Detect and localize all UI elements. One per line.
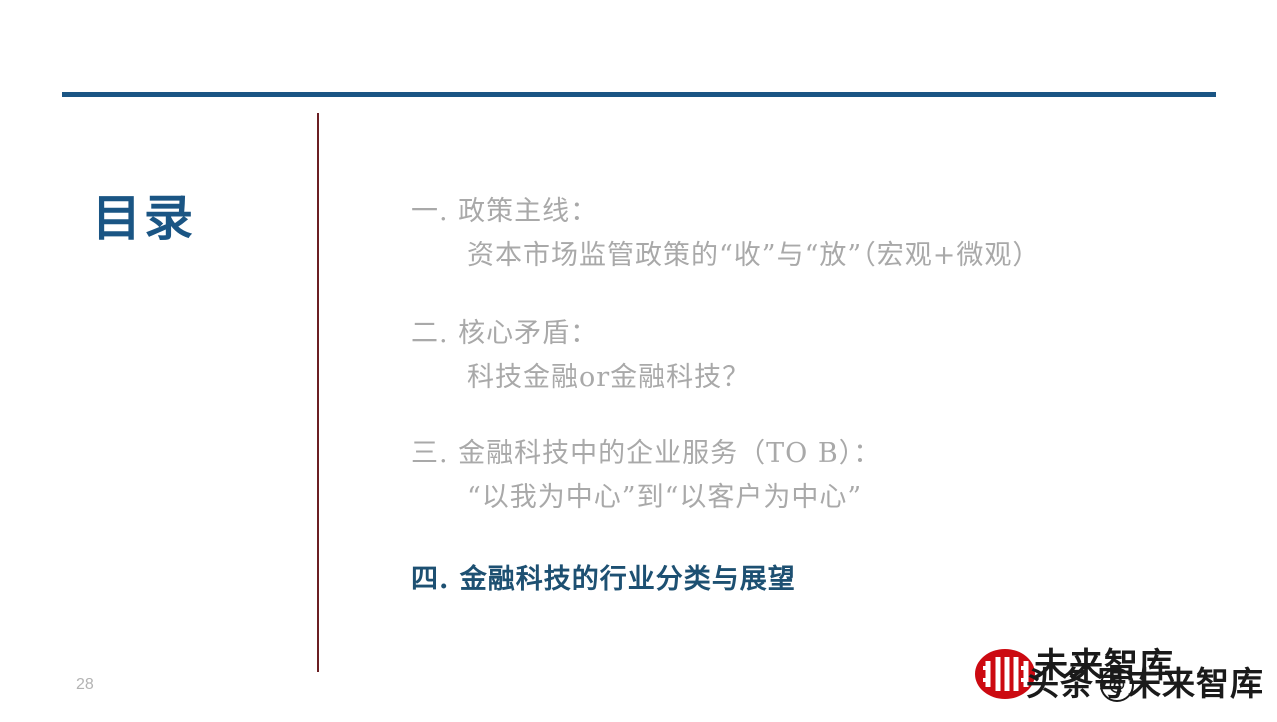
top-accent-rule bbox=[62, 92, 1216, 97]
toc-item-4[interactable]: 四. 金融科技的行业分类与展望 bbox=[411, 558, 1211, 602]
toc-item-1[interactable]: 一. 政策主线： 资本市场监管政策的“收”与“放”（宏观+微观） bbox=[411, 190, 1211, 278]
table-of-contents: 一. 政策主线： 资本市场监管政策的“收”与“放”（宏观+微观） 二. 核心矛盾… bbox=[411, 190, 1211, 602]
toc-item-3-line-1: 三. 金融科技中的企业服务（TO B）： bbox=[411, 432, 1211, 476]
toc-item-1-line-2: 资本市场监管政策的“收”与“放”（宏观+微观） bbox=[411, 234, 1211, 278]
vertical-divider bbox=[317, 113, 319, 672]
toc-item-2[interactable]: 二. 核心矛盾： 科技金融or金融科技？ bbox=[411, 312, 1211, 400]
toc-item-4-line-1: 四. 金融科技的行业分类与展望 bbox=[411, 558, 1211, 602]
at-sign-icon: @ bbox=[1100, 668, 1134, 702]
toc-item-2-line-1: 二. 核心矛盾： bbox=[411, 312, 1211, 356]
toc-item-2-line-2: 科技金融or金融科技？ bbox=[411, 356, 1211, 400]
toc-item-3-line-2: “以我为中心”到“以客户为中心” bbox=[411, 476, 1211, 520]
presentation-slide: 目录 一. 政策主线： 资本市场监管政策的“收”与“放”（宏观+微观） 二. 核… bbox=[0, 0, 1277, 722]
brand-watermark-cluster: 未来智库 头条号未来智库 @ bbox=[968, 640, 1277, 716]
toc-item-1-line-1: 一. 政策主线： bbox=[411, 190, 1211, 234]
page-title: 目录 bbox=[92, 192, 196, 246]
toutiao-watermark-text: 头条号未来智库 bbox=[1026, 664, 1264, 704]
toc-item-3[interactable]: 三. 金融科技中的企业服务（TO B）： “以我为中心”到“以客户为中心” bbox=[411, 432, 1211, 520]
page-number: 28 bbox=[76, 676, 94, 694]
